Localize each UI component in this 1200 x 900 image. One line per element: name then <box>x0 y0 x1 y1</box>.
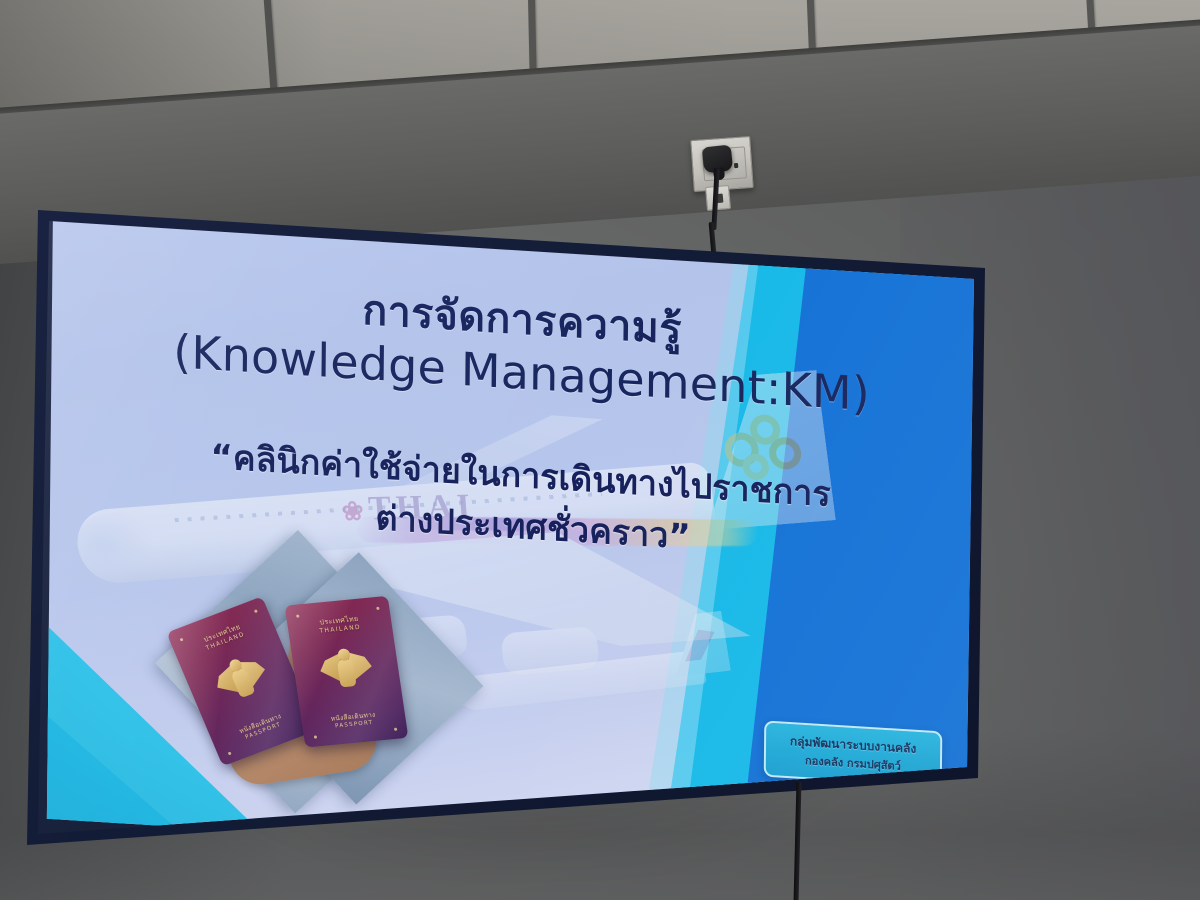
tv-drop-shadow <box>30 226 1010 866</box>
screenshot-root: ❀THAI <box>0 0 1200 900</box>
